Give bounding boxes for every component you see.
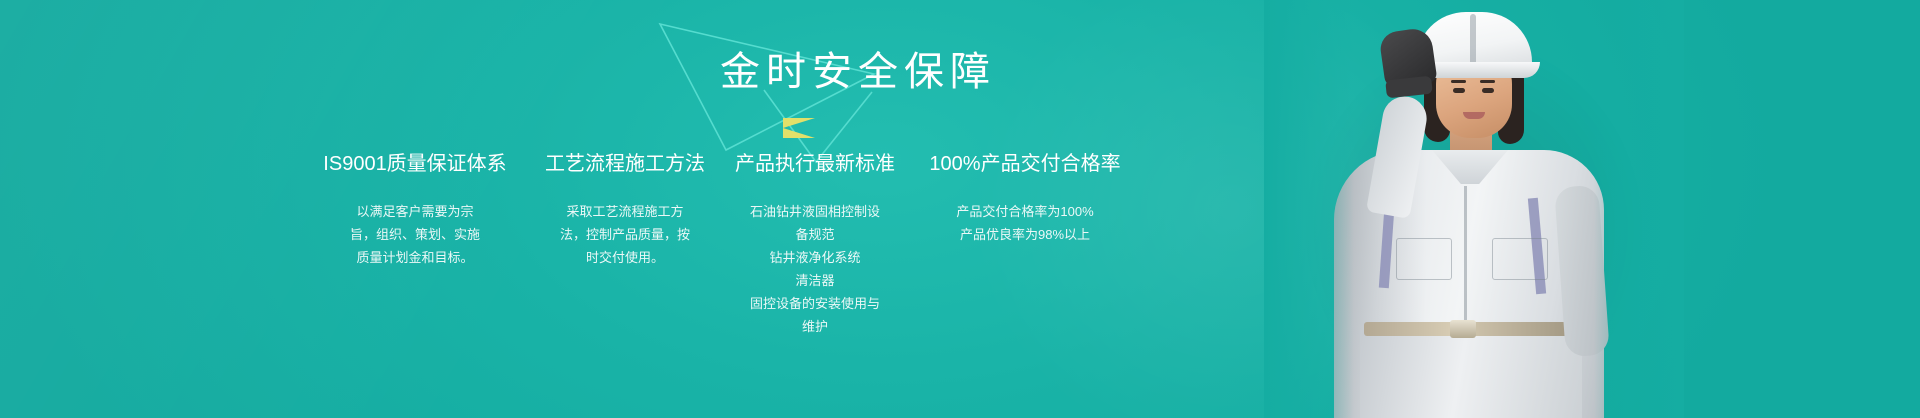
feature-heading-4: 100%产品交付合格率 <box>918 150 1132 178</box>
jacket-placket <box>1464 186 1467 328</box>
feature-body-1: 以满足客户需要为宗 旨，组织、策划、实施 质量计划金和目标。 <box>308 200 522 269</box>
feature-body-line: 旨，组织、策划、实施 <box>308 223 522 246</box>
feature-body-line: 以满足客户需要为宗 <box>308 200 522 223</box>
feature-column-3: 产品执行最新标准 石油钻井液固相控制设 备规范 钻井液净化系统 清洁器 固控设备… <box>720 150 910 338</box>
worker-photo <box>1264 0 1684 418</box>
feature-body-line: 石油钻井液固相控制设 <box>728 200 902 223</box>
helmet-ridge <box>1470 14 1476 68</box>
feature-column-1: IS9001质量保证体系 以满足客户需要为宗 旨，组织、策划、实施 质量计划金和… <box>300 150 530 269</box>
feature-body-line: 钻井液净化系统 <box>728 246 902 269</box>
feature-body-line: 固控设备的安装使用与 <box>728 292 902 315</box>
feature-body-4: 产品交付合格率为100% 产品优良率为98%以上 <box>918 200 1132 246</box>
feature-body-line: 法，控制产品质量，按 <box>538 223 712 246</box>
feature-body-line: 时交付使用。 <box>538 246 712 269</box>
feature-heading-3: 产品执行最新标准 <box>728 150 902 178</box>
feature-columns: IS9001质量保证体系 以满足客户需要为宗 旨，组织、策划、实施 质量计划金和… <box>300 150 1300 338</box>
feature-body-line: 质量计划金和目标。 <box>308 246 522 269</box>
photo-fade-right <box>1594 0 1684 418</box>
feature-column-2: 工艺流程施工方法 采取工艺流程施工方 法，控制产品质量，按 时交付使用。 <box>530 150 720 269</box>
feature-body-line: 采取工艺流程施工方 <box>538 200 712 223</box>
feature-body-3: 石油钻井液固相控制设 备规范 钻井液净化系统 清洁器 固控设备的安装使用与 维护 <box>728 200 902 338</box>
feature-heading-2: 工艺流程施工方法 <box>538 150 712 178</box>
photo-fade-left <box>1264 0 1354 418</box>
yellow-triangle-icon <box>783 118 815 138</box>
mouth <box>1463 112 1485 119</box>
uniform-trousers <box>1360 330 1582 418</box>
feature-body-line: 清洁器 <box>728 269 902 292</box>
jacket-pocket-right <box>1492 238 1548 280</box>
feature-heading-1: IS9001质量保证体系 <box>308 150 522 178</box>
eye-left <box>1453 88 1465 93</box>
eye-right <box>1482 88 1494 93</box>
feature-body-line: 产品优良率为98%以上 <box>918 223 1132 246</box>
eyebrow-right <box>1480 80 1495 83</box>
belt-buckle <box>1450 320 1476 338</box>
feature-body-2: 采取工艺流程施工方 法，控制产品质量，按 时交付使用。 <box>538 200 712 269</box>
jacket-pocket-left <box>1396 238 1452 280</box>
feature-body-line: 维护 <box>728 315 902 338</box>
safety-guarantee-banner: 金时安全保障 IS9001质量保证体系 以满足客户需要为宗 旨，组织、策划、实施… <box>0 0 1920 418</box>
feature-body-line: 备规范 <box>728 223 902 246</box>
feature-body-line: 产品交付合格率为100% <box>918 200 1132 223</box>
eyebrow-left <box>1451 80 1466 83</box>
feature-column-4: 100%产品交付合格率 产品交付合格率为100% 产品优良率为98%以上 <box>910 150 1140 246</box>
